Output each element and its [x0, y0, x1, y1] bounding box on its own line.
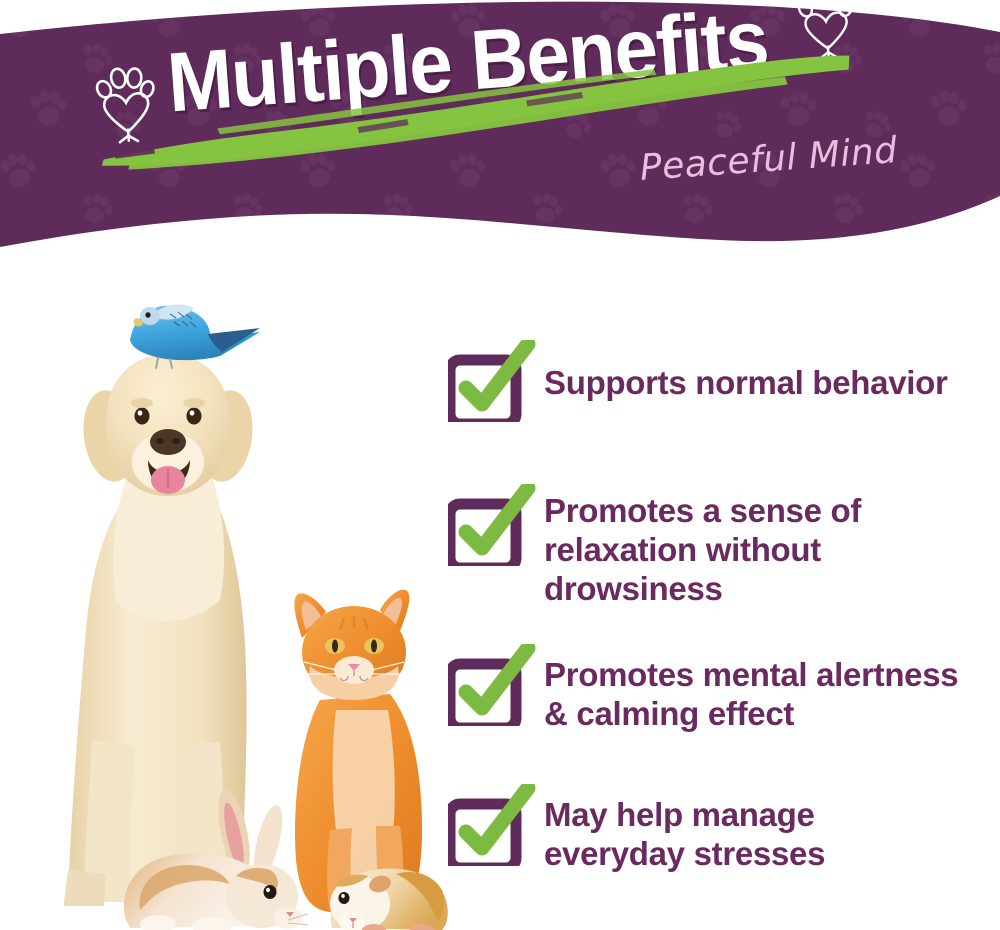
list-item[interactable]: May help manage everyday stresses	[448, 790, 825, 874]
list-item-label: Supports normal behavior	[544, 346, 948, 403]
banner-background	[0, 0, 1000, 260]
checked-checkbox-icon[interactable]	[448, 784, 536, 866]
checked-checkbox-icon[interactable]	[448, 644, 536, 726]
list-item-label: May help manage everyday stresses	[544, 790, 825, 874]
list-item-label: Promotes a sense of relaxation without d…	[544, 490, 861, 609]
banner-wave-shape	[0, 0, 1000, 260]
list-item[interactable]: Promotes a sense of relaxation without d…	[448, 490, 861, 609]
cat-illustration	[294, 590, 422, 912]
product-benefits-infographic: Multiple Benefits	[0, 0, 1000, 930]
pets-photo	[30, 270, 450, 930]
list-item-label: Promotes mental alertness & calming effe…	[544, 650, 958, 734]
checked-checkbox-icon[interactable]	[448, 484, 536, 566]
checked-checkbox-icon[interactable]	[448, 340, 536, 422]
list-item[interactable]: Promotes mental alertness & calming effe…	[448, 650, 958, 734]
header-banner: Multiple Benefits	[0, 0, 1000, 260]
list-item[interactable]: Supports normal behavior	[448, 346, 948, 422]
